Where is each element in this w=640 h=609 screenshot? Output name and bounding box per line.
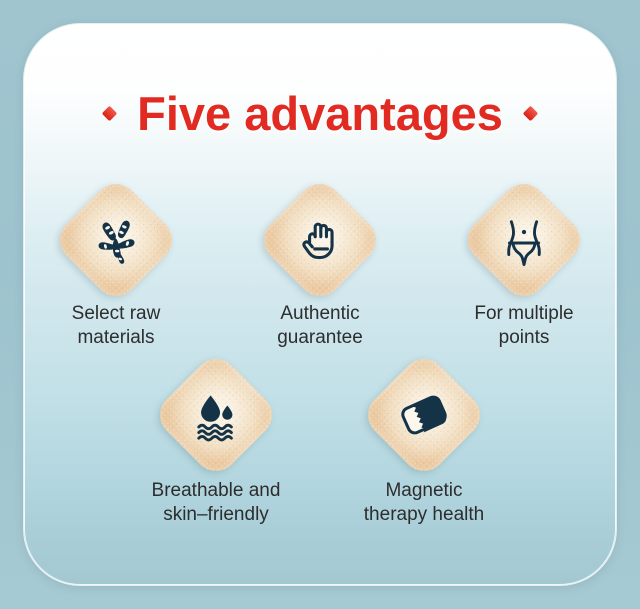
feature-breathable-skin-friendly[interactable]: Breathable and skin–friendly (142, 369, 290, 527)
feature-label: Select raw materials (72, 302, 161, 350)
diamond-bullet-left-icon (102, 106, 118, 122)
magnetic-patch-icon (394, 385, 454, 445)
feature-label: For multiple points (474, 302, 573, 350)
feature-row-bottom: Breathable and skin–friendly Magnetic th (24, 369, 616, 527)
diamond-bullet-right-icon (523, 106, 539, 122)
feature-label: Magnetic therapy health (364, 479, 484, 527)
title-row: Five advantages (24, 86, 616, 141)
feature-select-raw-materials[interactable]: Select raw materials (42, 194, 190, 350)
feature-tile (151, 350, 281, 480)
open-hand-icon (291, 211, 349, 269)
waist-body-icon (493, 210, 555, 270)
feature-row-top: Select raw materials (24, 194, 616, 350)
ginger-root-icon (85, 209, 147, 271)
feature-label: Authentic guarantee (277, 302, 363, 350)
feature-tile (255, 175, 385, 305)
feature-label: Breathable and skin–friendly (152, 479, 281, 527)
promo-card: Five advantages (24, 24, 616, 585)
feature-tile (51, 175, 181, 305)
feature-authentic-guarantee[interactable]: Authentic guarantee (246, 194, 394, 350)
feature-magnetic-therapy-health[interactable]: Magnetic therapy health (350, 369, 498, 527)
page-title: Five advantages (137, 86, 503, 141)
feature-for-multiple-points[interactable]: For multiple points (450, 194, 598, 350)
feature-tile (359, 350, 489, 480)
water-drop-waves-icon (187, 386, 245, 444)
feature-tile (459, 175, 589, 305)
promo-graphic: Five advantages (0, 0, 640, 609)
